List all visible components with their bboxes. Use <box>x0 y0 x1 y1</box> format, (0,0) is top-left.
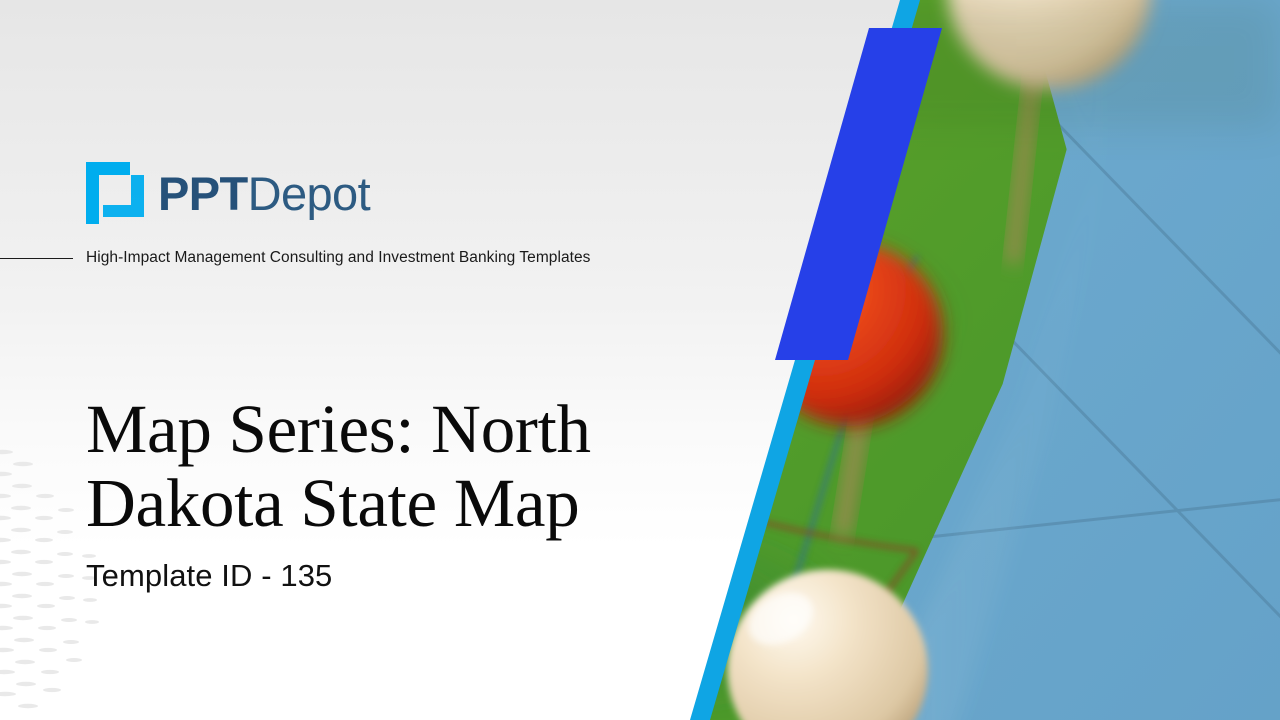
ppt-depot-logo-icon <box>86 162 144 224</box>
logo-row[interactable]: PPTDepot <box>86 160 370 226</box>
tagline-divider <box>0 258 73 259</box>
map-with-pins-photo <box>0 0 1280 720</box>
template-id-label: Template ID - 135 <box>86 558 686 594</box>
page-title: Map Series: North Dakota State Map <box>86 392 686 540</box>
tagline-row: High-Impact Management Consulting and In… <box>0 246 760 270</box>
wordmark-bold: PPT <box>158 167 248 220</box>
title-block: Map Series: North Dakota State Map Templ… <box>86 392 686 594</box>
slide-canvas: PPTDepot High-Impact Management Consulti… <box>0 0 1280 720</box>
brand-block: PPTDepot <box>86 160 370 226</box>
hero-image-panel <box>0 0 1280 720</box>
tagline-text: High-Impact Management Consulting and In… <box>86 249 590 267</box>
wordmark: PPTDepot <box>158 170 370 217</box>
wordmark-light: Depot <box>248 167 370 220</box>
